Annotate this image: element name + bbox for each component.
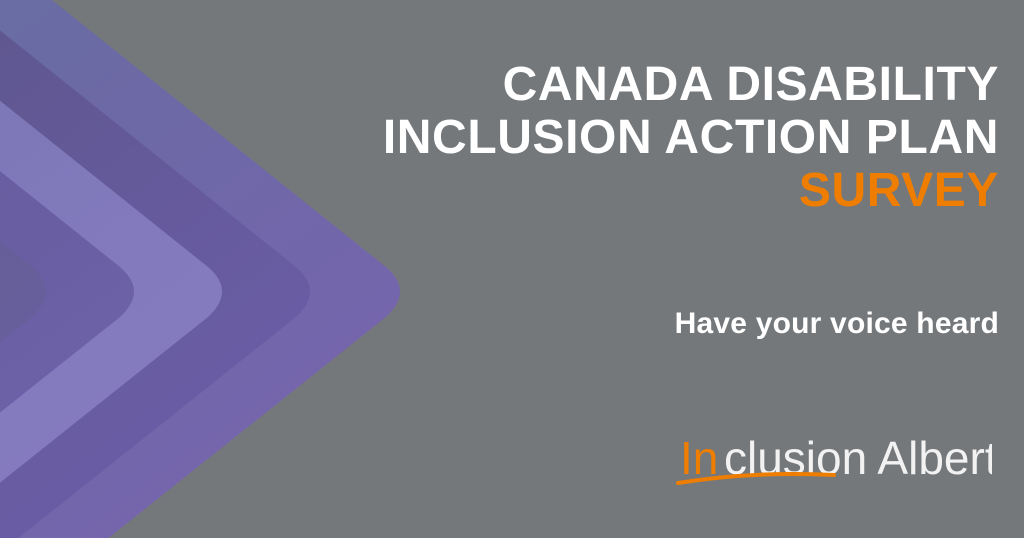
logo-accent-text: In (680, 432, 718, 484)
tagline: Have your voice heard (299, 306, 999, 342)
inclusion-alberta-logo: In clusion Alberta (672, 430, 992, 492)
survey-promo-banner: CANADA DISABILITY INCLUSION ACTION PLAN … (0, 0, 1024, 538)
headline-line-2: INCLUSION ACTION PLAN (299, 111, 999, 164)
headline: CANADA DISABILITY INCLUSION ACTION PLAN … (299, 58, 999, 217)
headline-line-3-survey: SURVEY (299, 164, 999, 217)
headline-line-1: CANADA DISABILITY (299, 58, 999, 111)
